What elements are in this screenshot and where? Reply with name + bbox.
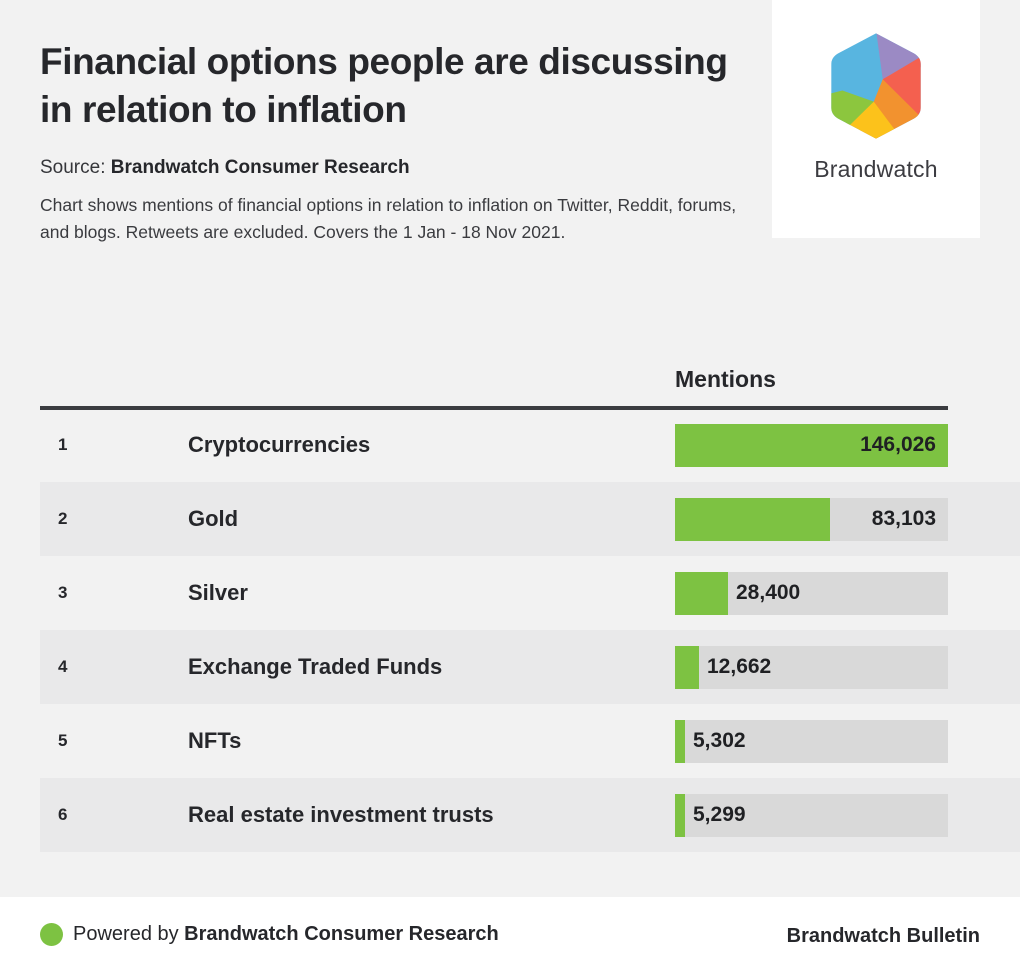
bar-value-label: 83,103 bbox=[872, 498, 936, 541]
mentions-table: Mentions 1Cryptocurrencies146,0262Gold83… bbox=[0, 350, 1020, 852]
table-row[interactable]: 1Cryptocurrencies146,026 bbox=[0, 408, 1020, 482]
footer: Powered by Brandwatch Consumer Research … bbox=[0, 897, 1020, 980]
row-label: Silver bbox=[188, 580, 248, 606]
table-row[interactable]: 4Exchange Traded Funds12,662 bbox=[0, 630, 1020, 704]
bulletin-label: Brandwatch Bulletin bbox=[787, 925, 980, 948]
bar-value-label: 5,302 bbox=[685, 720, 746, 763]
table-row[interactable]: 3Silver28,400 bbox=[0, 556, 1020, 630]
powered-by: Powered by Brandwatch Consumer Research bbox=[40, 923, 499, 946]
page-title: Financial options people are discussing … bbox=[40, 38, 740, 134]
brandwatch-hexagon-logo-icon bbox=[820, 30, 932, 142]
table-row[interactable]: 5NFTs5,302 bbox=[0, 704, 1020, 778]
row-label: Real estate investment trusts bbox=[188, 802, 494, 828]
chart-description: Chart shows mentions of financial option… bbox=[40, 192, 740, 246]
row-left-gutter bbox=[0, 630, 40, 704]
bar-track: 83,103 bbox=[675, 498, 948, 541]
row-rank: 1 bbox=[58, 435, 67, 455]
row-label: Gold bbox=[188, 506, 238, 532]
brandwatch-logo-card: Brandwatch bbox=[772, 0, 980, 238]
bar-track: 28,400 bbox=[675, 572, 948, 615]
bar-track: 5,302 bbox=[675, 720, 948, 763]
source-line: Source: Brandwatch Consumer Research bbox=[40, 156, 740, 180]
bar-fill bbox=[675, 572, 728, 615]
bar-value-label: 28,400 bbox=[728, 572, 800, 615]
row-left-gutter bbox=[0, 778, 40, 852]
source-name: Brandwatch Consumer Research bbox=[111, 157, 410, 178]
column-header-mentions: Mentions bbox=[675, 366, 776, 393]
row-rank: 5 bbox=[58, 731, 67, 751]
bar-fill bbox=[675, 794, 685, 837]
table-row[interactable]: 6Real estate investment trusts5,299 bbox=[0, 778, 1020, 852]
row-rank: 2 bbox=[58, 509, 67, 529]
row-left-gutter bbox=[0, 408, 40, 482]
bar-fill bbox=[675, 498, 830, 541]
chart-page: Financial options people are discussing … bbox=[0, 0, 1020, 980]
bar-track: 146,026 bbox=[675, 424, 948, 467]
row-label: Exchange Traded Funds bbox=[188, 654, 442, 680]
powered-by-text: Powered by Brandwatch Consumer Research bbox=[73, 923, 499, 946]
table-row[interactable]: 2Gold83,103 bbox=[0, 482, 1020, 556]
row-rank: 3 bbox=[58, 583, 67, 603]
powered-by-brand: Brandwatch Consumer Research bbox=[184, 923, 499, 945]
bar-fill bbox=[675, 720, 685, 763]
bar-value-label: 146,026 bbox=[860, 424, 936, 467]
table-body: 1Cryptocurrencies146,0262Gold83,1033Silv… bbox=[0, 408, 1020, 852]
row-left-gutter bbox=[0, 704, 40, 778]
row-label: NFTs bbox=[188, 728, 241, 754]
green-dot-icon bbox=[40, 923, 63, 946]
powered-by-prefix: Powered by bbox=[73, 923, 184, 945]
bar-track: 12,662 bbox=[675, 646, 948, 689]
bar-fill bbox=[675, 646, 699, 689]
row-label: Cryptocurrencies bbox=[188, 432, 370, 458]
header: Financial options people are discussing … bbox=[40, 38, 740, 246]
bar-value-label: 12,662 bbox=[699, 646, 771, 689]
bar-value-label: 5,299 bbox=[685, 794, 746, 837]
row-rank: 6 bbox=[58, 805, 67, 825]
bar-track: 5,299 bbox=[675, 794, 948, 837]
row-rank: 4 bbox=[58, 657, 67, 677]
source-label: Source: bbox=[40, 157, 105, 178]
row-left-gutter bbox=[0, 482, 40, 556]
table-header-row: Mentions bbox=[0, 350, 1020, 408]
row-left-gutter bbox=[0, 556, 40, 630]
brandwatch-wordmark: Brandwatch bbox=[814, 156, 937, 183]
